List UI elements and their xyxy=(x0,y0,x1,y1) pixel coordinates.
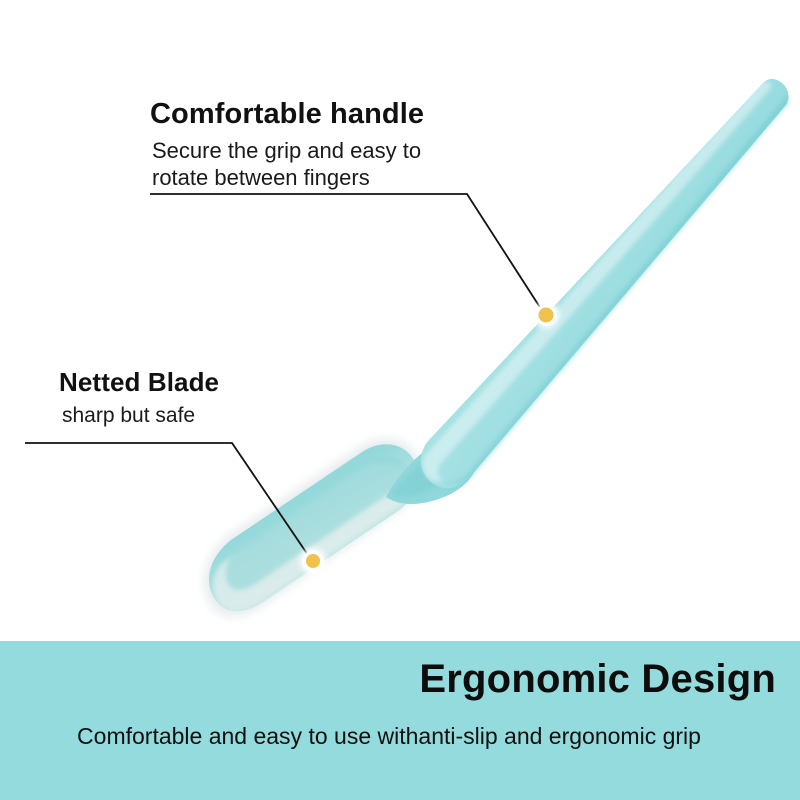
handle-shading xyxy=(421,79,789,488)
banner-subtitle: Comfortable and easy to use withanti-sli… xyxy=(0,723,778,750)
callout-comfortable-handle: Comfortable handle Secure the grip and e… xyxy=(150,96,424,191)
handle-highlight xyxy=(423,81,772,482)
callout-description-comfortable-handle-line-2: rotate between fingers xyxy=(152,164,424,191)
callout-title-comfortable-handle: Comfortable handle xyxy=(150,96,424,132)
infographic-page: Comfortable handle Secure the grip and e… xyxy=(0,0,800,800)
bottom-banner: Ergonomic Design Comfortable and easy to… xyxy=(0,641,800,800)
blade-neck xyxy=(386,424,477,504)
leader-line-netted-blade xyxy=(25,443,310,558)
marker-dot-netted-blade xyxy=(300,548,326,574)
blade-head-halo xyxy=(204,439,421,617)
blade-neck-shade xyxy=(392,437,459,497)
handle-shadow xyxy=(444,94,789,484)
callout-title-netted-blade: Netted Blade xyxy=(59,366,219,398)
blade-head-edge xyxy=(213,462,412,612)
callout-description-netted-blade-line-1: sharp but safe xyxy=(62,403,219,429)
marker-dot-comfortable-handle xyxy=(533,302,559,328)
blade-head xyxy=(209,444,419,611)
handle-shaft xyxy=(421,79,789,488)
blade-head-highlight xyxy=(226,458,408,590)
callout-description-comfortable-handle-line-1: Secure the grip and easy to xyxy=(152,137,424,164)
callout-netted-blade: Netted Blade sharp but safe xyxy=(59,366,219,429)
leader-line-comfortable-handle xyxy=(150,194,543,312)
banner-title: Ergonomic Design xyxy=(419,657,776,702)
